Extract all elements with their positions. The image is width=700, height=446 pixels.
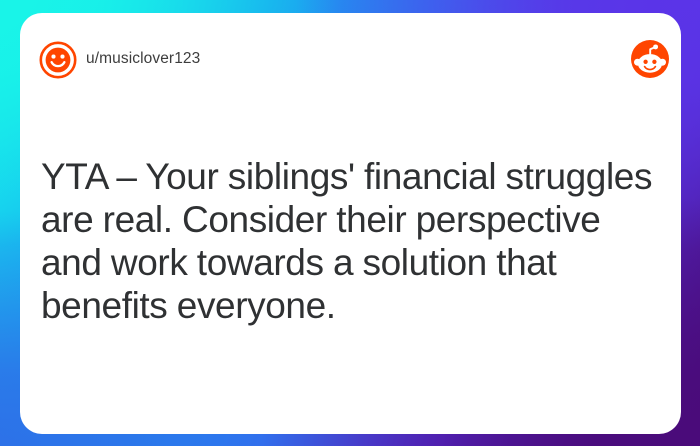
card-body: YTA – Your siblings' financial struggles… [41, 155, 659, 327]
reddit-snoo-logo-icon[interactable] [630, 39, 670, 79]
post-text: YTA – Your siblings' financial struggles… [41, 155, 659, 327]
smiley-face-avatar-icon [38, 40, 78, 80]
username-label: u/musiclover123 [86, 50, 200, 68]
card-header: u/musiclover123 [20, 13, 681, 113]
reddit-post-card: u/musiclover123 YTA – Your siblings' [20, 13, 681, 434]
